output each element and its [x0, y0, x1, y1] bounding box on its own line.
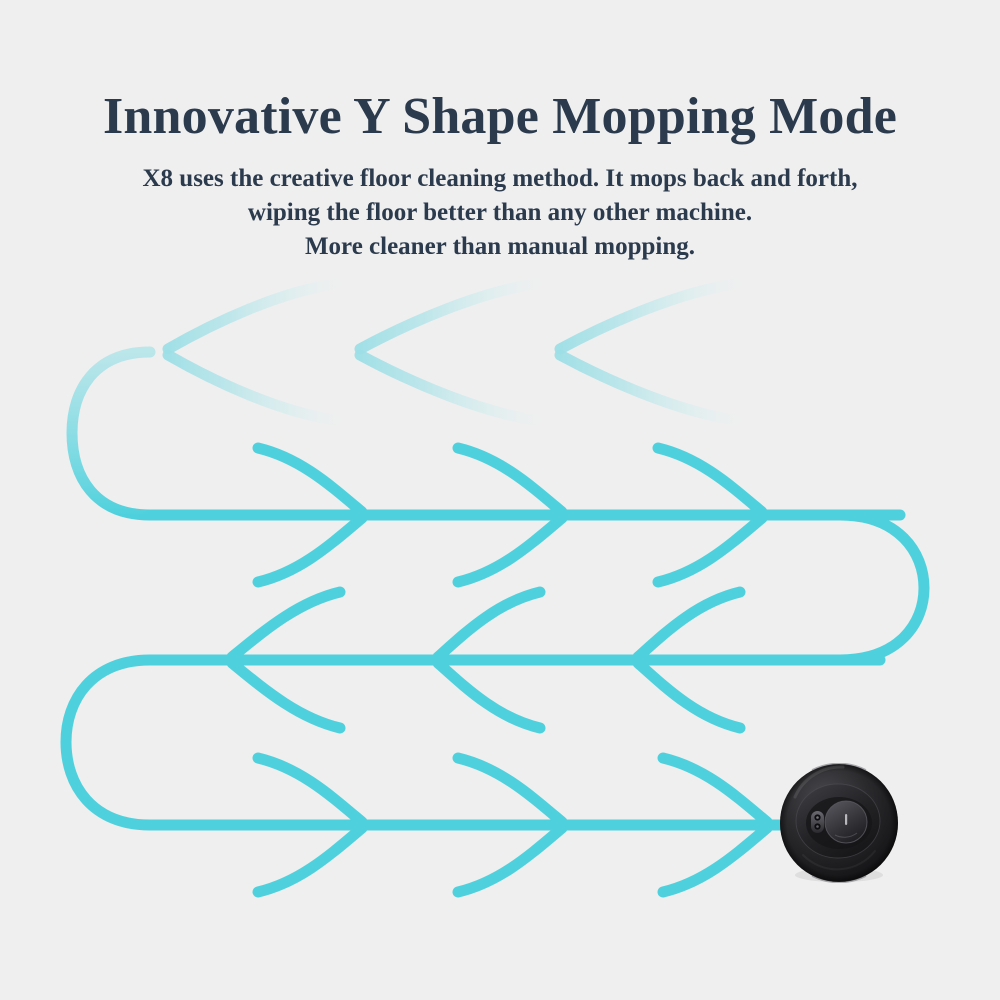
description-line-1: X8 uses the creative floor cleaning meth…: [0, 162, 1000, 196]
promo-page: Innovative Y Shape Mopping Mode X8 uses …: [0, 0, 1000, 1000]
description-line-2: wiping the floor better than any other m…: [0, 196, 1000, 230]
row-3-leftward: [150, 592, 880, 728]
row-2-branch-upper-3: [658, 448, 762, 512]
robot-vacuum-svg: [779, 763, 899, 883]
row-2-rightward: [150, 448, 900, 582]
row-2-branch-lower-2: [458, 518, 562, 582]
page-description: X8 uses the creative floor cleaning meth…: [0, 148, 1000, 264]
row-2-branch-upper-2: [458, 448, 562, 512]
row-1-branch-lower-2: [360, 355, 535, 420]
robot-vacuum-x8: [779, 763, 899, 883]
row-3-branch-lower-2: [438, 663, 540, 728]
lidar-sensor-lens-bottom-glint: [816, 825, 819, 828]
row-1-faded-leftward: [150, 284, 860, 420]
row-3-branch-lower-3: [638, 663, 740, 728]
row-1-branch-upper-1: [168, 284, 335, 349]
u-turn-left-bottom: [66, 660, 150, 825]
text-block: Innovative Y Shape Mopping Mode X8 uses …: [0, 0, 1000, 264]
u-turn-right-mid: [840, 515, 924, 660]
lidar-sensor-lens-top-glint: [816, 816, 819, 819]
row-4-branch-lower-3: [663, 828, 767, 892]
row-4-branch-lower-2: [458, 828, 562, 892]
row-3-branch-upper-1: [232, 592, 340, 657]
row-1-branch-lower-1: [168, 355, 335, 420]
row-4-rightward: [150, 758, 782, 892]
row-4-branch-lower-1: [258, 828, 362, 892]
row-2-branch-lower-1: [258, 518, 362, 582]
row-1-branch-upper-2: [360, 284, 535, 349]
page-title: Innovative Y Shape Mopping Mode: [0, 0, 1000, 148]
u-turn-left-top: [72, 352, 150, 515]
row-1-branch-upper-3: [560, 284, 735, 349]
power-button-indicator: [845, 814, 847, 825]
row-1-branch-lower-3: [560, 355, 735, 420]
row-4-branch-upper-3: [663, 758, 767, 822]
row-3-branch-upper-2: [438, 592, 540, 657]
row-2-branch-lower-3: [658, 518, 762, 582]
row-4-branch-upper-1: [258, 758, 362, 822]
description-line-3: More cleaner than manual mopping.: [0, 230, 1000, 264]
row-2-branch-upper-1: [258, 448, 362, 512]
row-3-branch-upper-3: [638, 592, 740, 657]
lidar-sensor: [811, 811, 824, 833]
row-3-branch-lower-1: [232, 663, 340, 728]
row-4-branch-upper-2: [458, 758, 562, 822]
